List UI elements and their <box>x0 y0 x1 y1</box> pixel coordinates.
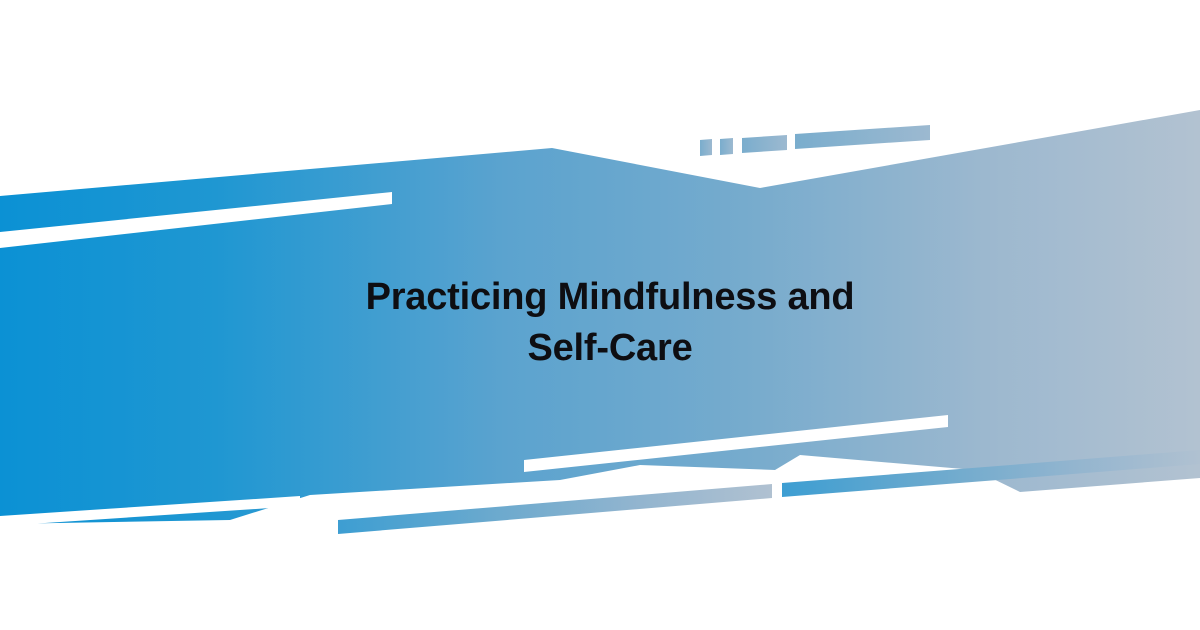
banner-artwork <box>0 0 1200 630</box>
banner-container: Practicing Mindfulness and Self-Care <box>0 0 1200 630</box>
